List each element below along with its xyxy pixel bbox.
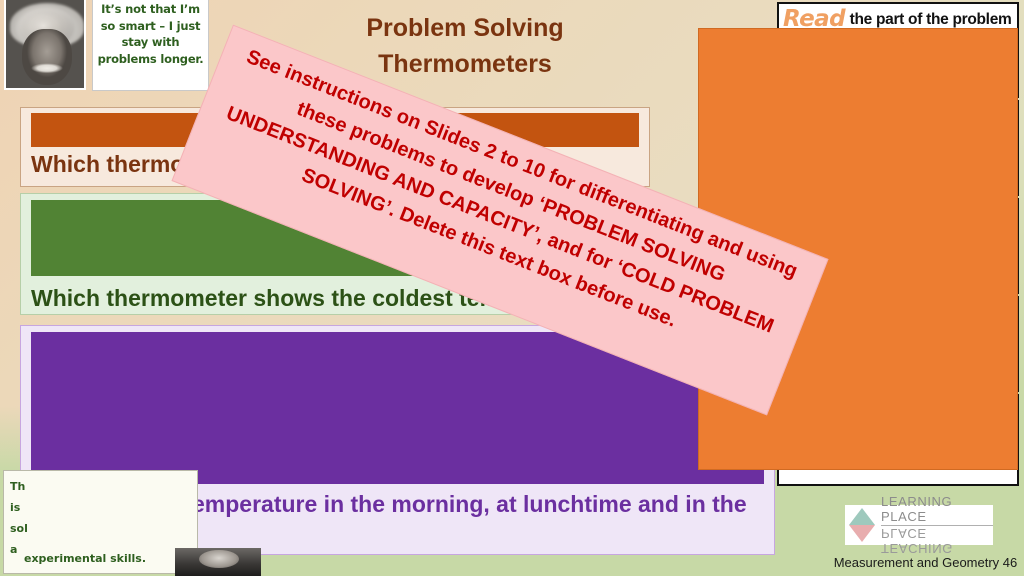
strategy-card-body: the part of the problem bbox=[850, 11, 1012, 28]
slide-canvas: It’s not that I’m so smart – I just stay… bbox=[0, 0, 1024, 576]
logo-wordmark: LEARNING PLACE TEACHING PLACE bbox=[881, 494, 993, 557]
page-title-line-1: Problem Solving bbox=[300, 10, 630, 46]
logo-line-learning: LEARNING PLACE bbox=[881, 494, 993, 526]
teacher-note-line-5: experimental skills. bbox=[24, 548, 146, 569]
einstein-thumbnail-image bbox=[175, 548, 261, 576]
einstein-portrait-image bbox=[4, 0, 86, 90]
logo-line-teaching: TEACHING PLACE bbox=[881, 526, 993, 557]
learning-place-logo: LEARNING PLACE TEACHING PLACE bbox=[845, 505, 993, 545]
einstein-quote-cluster: It’s not that I’m so smart – I just stay… bbox=[4, 0, 209, 95]
teacher-note-line-3: sol bbox=[10, 518, 191, 539]
teacher-note-box: Th is sol a experimental skills. bbox=[3, 470, 198, 574]
einstein-quote-text: It’s not that I’m so smart – I just stay… bbox=[92, 0, 209, 91]
footer-caption: Measurement and Geometry 46 bbox=[833, 555, 1018, 570]
teacher-note-line-2: is bbox=[10, 497, 191, 518]
diamond-icon bbox=[849, 508, 875, 542]
teacher-note-line-1: Th bbox=[10, 476, 191, 497]
